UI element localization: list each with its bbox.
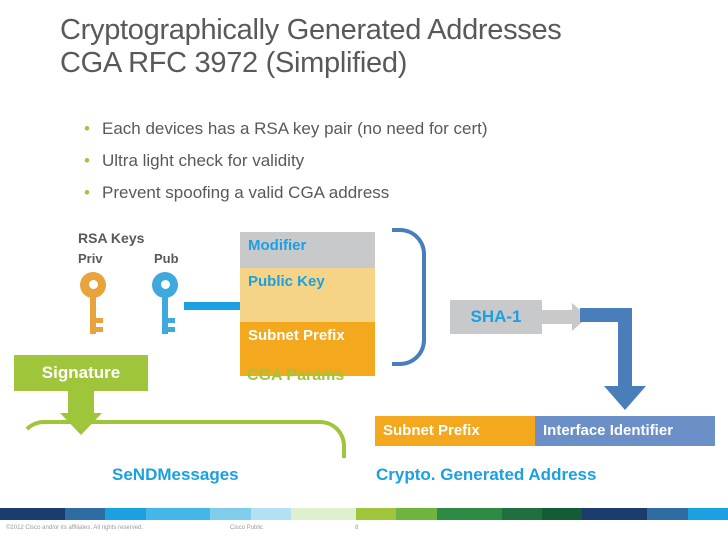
list-item: • Prevent spoofing a valid CGA address: [84, 182, 684, 204]
bullet-marker-icon: •: [84, 118, 102, 140]
hash-to-address-arrow-head-icon: [604, 386, 646, 410]
page-title-line1: Cryptographically Generated Addresses: [60, 14, 562, 46]
footer-bar-segment: [542, 508, 582, 520]
private-key-icon: [80, 272, 106, 298]
cga-diagram: RSA Keys Priv Pub Modifier Public Key Su…: [0, 220, 728, 510]
public-key-icon: [152, 272, 178, 298]
bullet-marker-icon: •: [84, 150, 102, 172]
send-messages-label: SeNDMessages: [112, 465, 239, 485]
rsa-pub-label: Pub: [154, 251, 179, 266]
footer-bar-segment: [210, 508, 250, 520]
address-subnet-prefix: Subnet Prefix: [375, 416, 535, 446]
rsa-keys-label: RSA Keys: [78, 230, 144, 246]
list-item: • Ultra light check for validity: [84, 150, 684, 172]
rsa-priv-label: Priv: [78, 251, 103, 266]
cga-row-public-key: Public Key: [240, 268, 375, 322]
footer-bar-segment: [356, 508, 396, 520]
footer-bar-segment: [291, 508, 356, 520]
footer-color-bar: [0, 508, 728, 520]
page-title-line2: CGA RFC 3972 (Simplified): [60, 47, 700, 80]
sha1-output-arrow-icon: [542, 310, 572, 324]
hash-to-address-arrow-vertical-icon: [618, 308, 632, 390]
generated-address-caption: Crypto. Generated Address: [376, 465, 596, 485]
footer-bar-segment: [502, 508, 542, 520]
footer-bar-segment: [647, 508, 687, 520]
address-interface-identifier: Interface Identifier: [535, 416, 715, 446]
cga-params-stack: Modifier Public Key Subnet Prefix: [240, 232, 375, 376]
footer: ©2012 Cisco and/or its affiliates. All r…: [0, 522, 728, 540]
send-brace-icon: [18, 420, 346, 458]
generated-address-bar: Subnet Prefix Interface Identifier: [375, 416, 715, 446]
footer-bar-segment: [437, 508, 502, 520]
bullet-text: Each devices has a RSA key pair (no need…: [102, 118, 488, 140]
footer-bar-segment: [65, 508, 105, 520]
params-brace-icon: [392, 228, 426, 366]
list-item: • Each devices has a RSA key pair (no ne…: [84, 118, 684, 140]
footer-bar-segment: [688, 508, 728, 520]
footer-bar-segment: [251, 508, 291, 520]
footer-bar-segment: [0, 508, 65, 520]
footer-page-number: 8: [355, 525, 358, 531]
signature-arrow-shaft-icon: [68, 391, 94, 415]
bullet-text: Ultra light check for validity: [102, 150, 304, 172]
footer-bar-segment: [105, 508, 145, 520]
footer-bar-segment: [146, 508, 211, 520]
cga-params-caption: CGA Params: [247, 367, 344, 385]
footer-bar-segment: [396, 508, 436, 520]
public-key-to-params-arrow-icon: [184, 302, 240, 310]
footer-bar-segment: [582, 508, 647, 520]
sha1-box: SHA-1: [450, 300, 542, 334]
signature-box: Signature: [14, 355, 148, 391]
bullet-list: • Each devices has a RSA key pair (no ne…: [84, 118, 684, 214]
page-title: Cryptographically Generated Addresses CG…: [60, 14, 700, 80]
footer-classification: Cisco Public: [230, 525, 263, 531]
bullet-marker-icon: •: [84, 182, 102, 204]
cga-row-modifier: Modifier: [240, 232, 375, 268]
bullet-text: Prevent spoofing a valid CGA address: [102, 182, 389, 204]
footer-copyright: ©2012 Cisco and/or its affiliates. All r…: [6, 525, 143, 531]
